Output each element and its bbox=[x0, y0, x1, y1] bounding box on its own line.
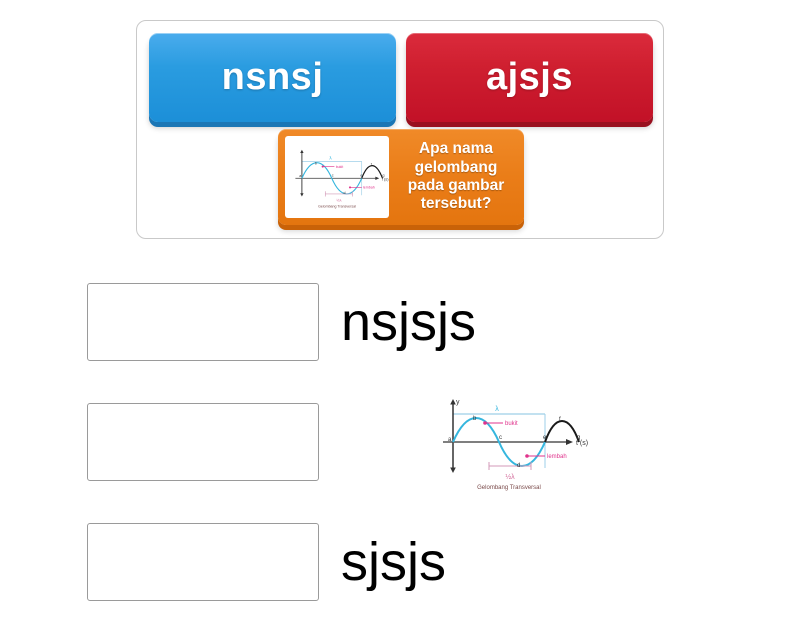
figure-caption: Gelombang Transversal bbox=[477, 485, 541, 491]
svg-text:g: g bbox=[577, 435, 580, 441]
question-card-text: Apa nama gelombang pada gambar tersebut? bbox=[395, 136, 517, 218]
svg-text:d: d bbox=[517, 463, 520, 469]
tile-label: nsnsj bbox=[222, 56, 324, 99]
draggable-tile-ajsjs[interactable]: ajsjs bbox=[406, 33, 653, 122]
draggable-tile-nsnsj[interactable]: nsnsj bbox=[149, 33, 396, 122]
drop-slot-1[interactable] bbox=[87, 283, 319, 361]
tile-row: nsnsj ajsjs bbox=[149, 33, 653, 122]
drop-slot-3[interactable] bbox=[87, 523, 319, 601]
svg-text:λ: λ bbox=[495, 406, 499, 413]
answer-label-1: nsjsjs bbox=[341, 295, 476, 349]
svg-text:bukit: bukit bbox=[336, 165, 344, 169]
wave-diagram-svg: λ y t (s) bukit bbox=[429, 392, 589, 492]
thumbnail-caption: Gelombang Transversal bbox=[318, 205, 356, 209]
draggable-tile-question-card[interactable]: λ t (s) bukit lembah bbox=[278, 129, 524, 225]
answer-figure-2: λ y t (s) bukit bbox=[429, 392, 589, 492]
answer-row-2: λ y t (s) bukit bbox=[0, 392, 800, 492]
answer-rows: nsjsjs λ y t (s) bbox=[0, 272, 800, 632]
trough-annotation: lembah bbox=[547, 454, 567, 460]
svg-text:b: b bbox=[315, 162, 317, 166]
svg-text:a: a bbox=[299, 174, 301, 178]
svg-text:d: d bbox=[344, 191, 346, 195]
answer-row-3: sjsjs bbox=[0, 512, 800, 612]
svg-text:½λ: ½λ bbox=[336, 198, 341, 203]
tile-label: ajsjs bbox=[486, 56, 573, 99]
answer-tile-tray: nsnsj ajsjs λ t (s) bbox=[136, 20, 664, 239]
svg-text:g: g bbox=[383, 173, 385, 177]
drop-slot-2[interactable] bbox=[87, 403, 319, 481]
answer-row-1: nsjsjs bbox=[0, 272, 800, 372]
svg-text:c: c bbox=[499, 435, 502, 441]
wave-diagram-thumbnail: λ t (s) bukit lembah bbox=[285, 136, 389, 218]
crest-annotation: bukit bbox=[505, 421, 518, 427]
wave-thumbnail-svg: λ t (s) bukit lembah bbox=[285, 136, 389, 218]
svg-text:½λ: ½λ bbox=[505, 473, 515, 481]
svg-text:c: c bbox=[332, 173, 334, 177]
answer-label-3: sjsjs bbox=[341, 535, 446, 589]
y-axis-label: y bbox=[456, 399, 460, 406]
svg-text:e: e bbox=[360, 173, 362, 177]
svg-text:lembah: lembah bbox=[363, 186, 375, 190]
svg-text:f: f bbox=[371, 162, 372, 166]
